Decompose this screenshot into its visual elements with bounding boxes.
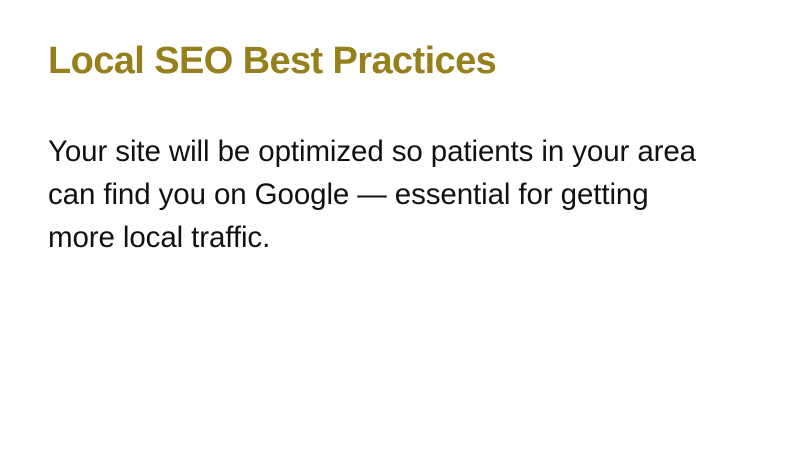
slide-content-block: Local SEO Best Practices Your site will … [48, 38, 728, 259]
page-title: Local SEO Best Practices [48, 38, 728, 84]
slide-canvas: Local SEO Best Practices Your site will … [0, 0, 800, 457]
slide-body-text: Your site will be optimized so patients … [48, 130, 716, 259]
